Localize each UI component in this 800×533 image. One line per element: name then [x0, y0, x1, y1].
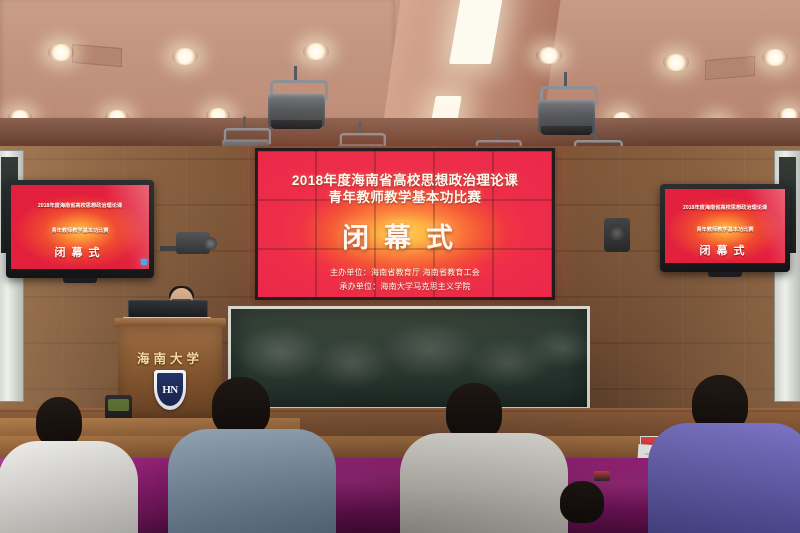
downlight-5 [663, 54, 689, 71]
led-title-line-1: 2018年度海南省高校思想政治理论课 [292, 173, 518, 190]
main-led-video-wall: 2018年度海南省高校思想政治理论课 青年教师教学基本功比赛 闭幕式 主办单位：… [255, 148, 555, 300]
ceiling-panel-left [0, 0, 395, 122]
downlight-1 [48, 44, 74, 61]
audience-member-5 [540, 473, 630, 533]
right-wall-monitor: 2018年度海南省高校思想政治理论课 青年教师教学基本功比赛 闭幕式 主办单位：… [660, 184, 790, 272]
led-host-line: 承办单位：海南大学马克思主义学院 [339, 281, 470, 293]
audience-head [560, 481, 604, 523]
monitor-stand [63, 278, 97, 283]
ceiling [0, 0, 800, 150]
camera-lens-icon [204, 237, 217, 250]
left-wall-monitor: 2018年度海南省高校思想政治理论课 青年教师教学基本功比赛 闭幕式 主办单位：… [6, 180, 154, 278]
lectern-nameplate: 海南大学 [118, 348, 222, 367]
led-slide-content: 2018年度海南省高校思想政治理论课 青年教师教学基本功比赛 闭幕式 主办单位：… [255, 148, 555, 300]
auditorium-photo: 2018年度海南省高校思想政治理论课 青年教师教学基本功比赛 闭幕式 主办单位：… [0, 0, 800, 533]
downlight-6 [762, 49, 788, 66]
led-title-line-2: 青年教师教学基本功比赛 [329, 190, 482, 207]
speaker-cone-icon [609, 225, 625, 241]
audience-shoulders [0, 441, 138, 533]
monitor-glare [99, 185, 149, 269]
audience-head [36, 397, 82, 447]
audience-shoulders [648, 423, 800, 533]
audience-member-4 [648, 373, 800, 533]
monitor-glare [742, 189, 785, 263]
monitor-screen: 2018年度海南省高校思想政治理论课 青年教师教学基本功比赛 闭幕式 主办单位：… [665, 189, 785, 263]
led-organizer-line: 主办单位：海南省教育厅 海南省教育工会 [330, 267, 480, 279]
led-headline: 闭幕式 [342, 216, 468, 255]
downlight-4 [536, 47, 562, 64]
monitor-power-led-icon [141, 259, 147, 265]
audience-member-2 [168, 377, 336, 533]
downlight-2 [172, 48, 198, 65]
monitor-screen: 2018年度海南省高校思想政治理论课 青年教师教学基本功比赛 闭幕式 主办单位：… [11, 185, 149, 269]
downlight-3 [303, 43, 329, 60]
audience-head [212, 377, 270, 437]
spotlight-lens [271, 120, 322, 129]
spotlight-lens [541, 126, 592, 135]
audience-member-1 [14, 383, 144, 533]
monitor-stand [708, 272, 742, 277]
wall-speaker [604, 218, 630, 252]
monitor-headline: 闭幕式 [55, 244, 106, 260]
audience-shoulders [168, 429, 336, 533]
